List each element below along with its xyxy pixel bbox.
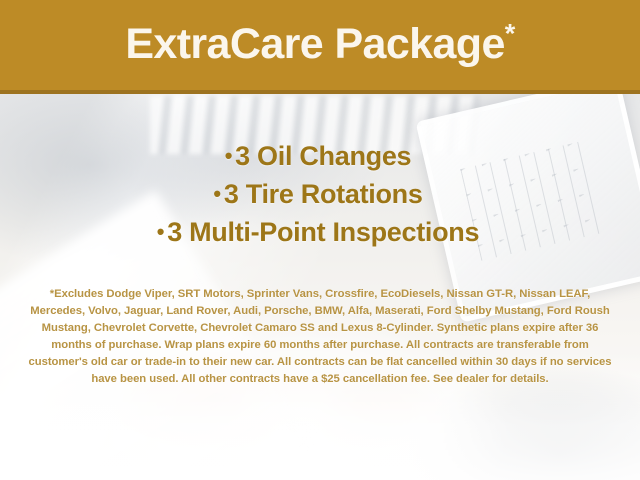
disclaimer-text: *Excludes Dodge Viper, SRT Motors, Sprin… (28, 286, 612, 389)
list-item: •3 Oil Changes (0, 137, 636, 175)
list-item-label: 3 Tire Rotations (224, 179, 423, 209)
header-banner: ExtraCare Package* (0, 0, 640, 94)
list-item: •3 Tire Rotations (0, 175, 636, 213)
extracare-package-ad: ExtraCare Package* •3 Oil Changes •3 Tir… (0, 0, 640, 480)
list-item-label: 3 Multi-Point Inspections (167, 217, 479, 247)
benefits-list: •3 Oil Changes •3 Tire Rotations •3 Mult… (0, 137, 640, 251)
bullet-dot-icon: • (213, 181, 220, 206)
page-title-text: ExtraCare Package (125, 20, 504, 68)
bullet-dot-icon: • (225, 143, 232, 168)
page-title: ExtraCare Package* (125, 23, 514, 66)
list-item: •3 Multi-Point Inspections (0, 213, 636, 251)
list-item-label: 3 Oil Changes (235, 141, 411, 171)
bullet-dot-icon: • (157, 219, 164, 244)
title-asterisk: * (505, 18, 515, 48)
